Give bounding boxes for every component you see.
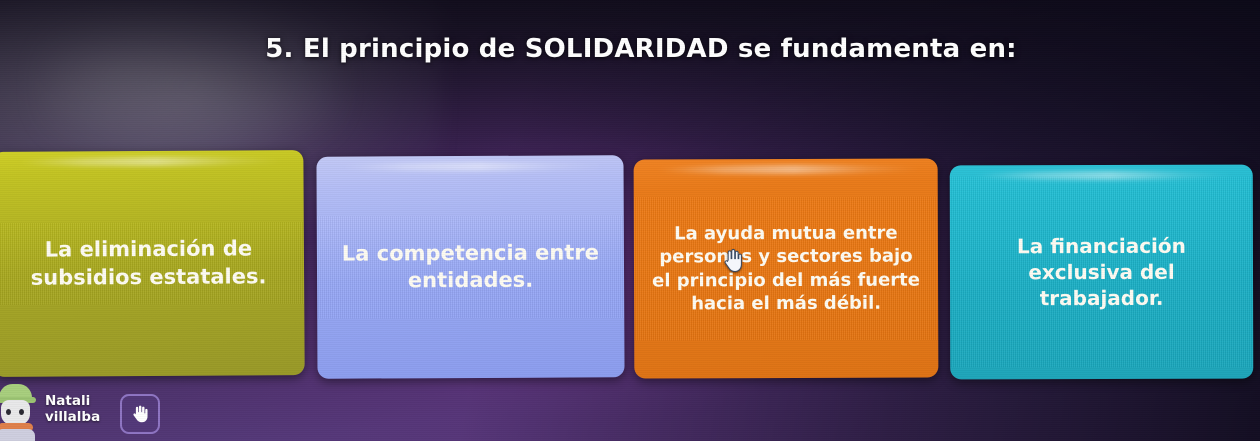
answer-option-1[interactable]: La eliminación de subsidios estatales. — [0, 150, 305, 377]
raise-hand-icon — [129, 403, 151, 425]
question-title: 5. El principio de SOLIDARIDAD se fundam… — [0, 34, 1260, 64]
answer-option-4[interactable]: La financiación exclusiva del trabajador… — [950, 165, 1254, 380]
answer-option-4-label: La financiación exclusiva del trabajador… — [964, 233, 1239, 312]
answer-option-1-label: La eliminación de subsidios estatales. — [7, 235, 290, 291]
answer-option-3[interactable]: La ayuda mutua entre personas y sectores… — [634, 158, 939, 378]
user-name-label: Natali villalba — [45, 394, 107, 426]
raise-hand-button[interactable] — [120, 394, 160, 434]
answer-option-3-label: La ayuda mutua entre personas y sectores… — [648, 221, 924, 316]
answer-option-2[interactable]: La competencia entre entidades. — [316, 155, 624, 378]
user-status-bar: Natali villalba — [0, 379, 160, 441]
answer-options-grid: La eliminación de subsidios estatales. L… — [0, 0, 1260, 441]
answer-option-2-label: La competencia entre entidades. — [331, 239, 610, 295]
quiz-screen: 5. El principio de SOLIDARIDAD se fundam… — [0, 0, 1260, 441]
student-avatar-icon — [0, 382, 36, 438]
